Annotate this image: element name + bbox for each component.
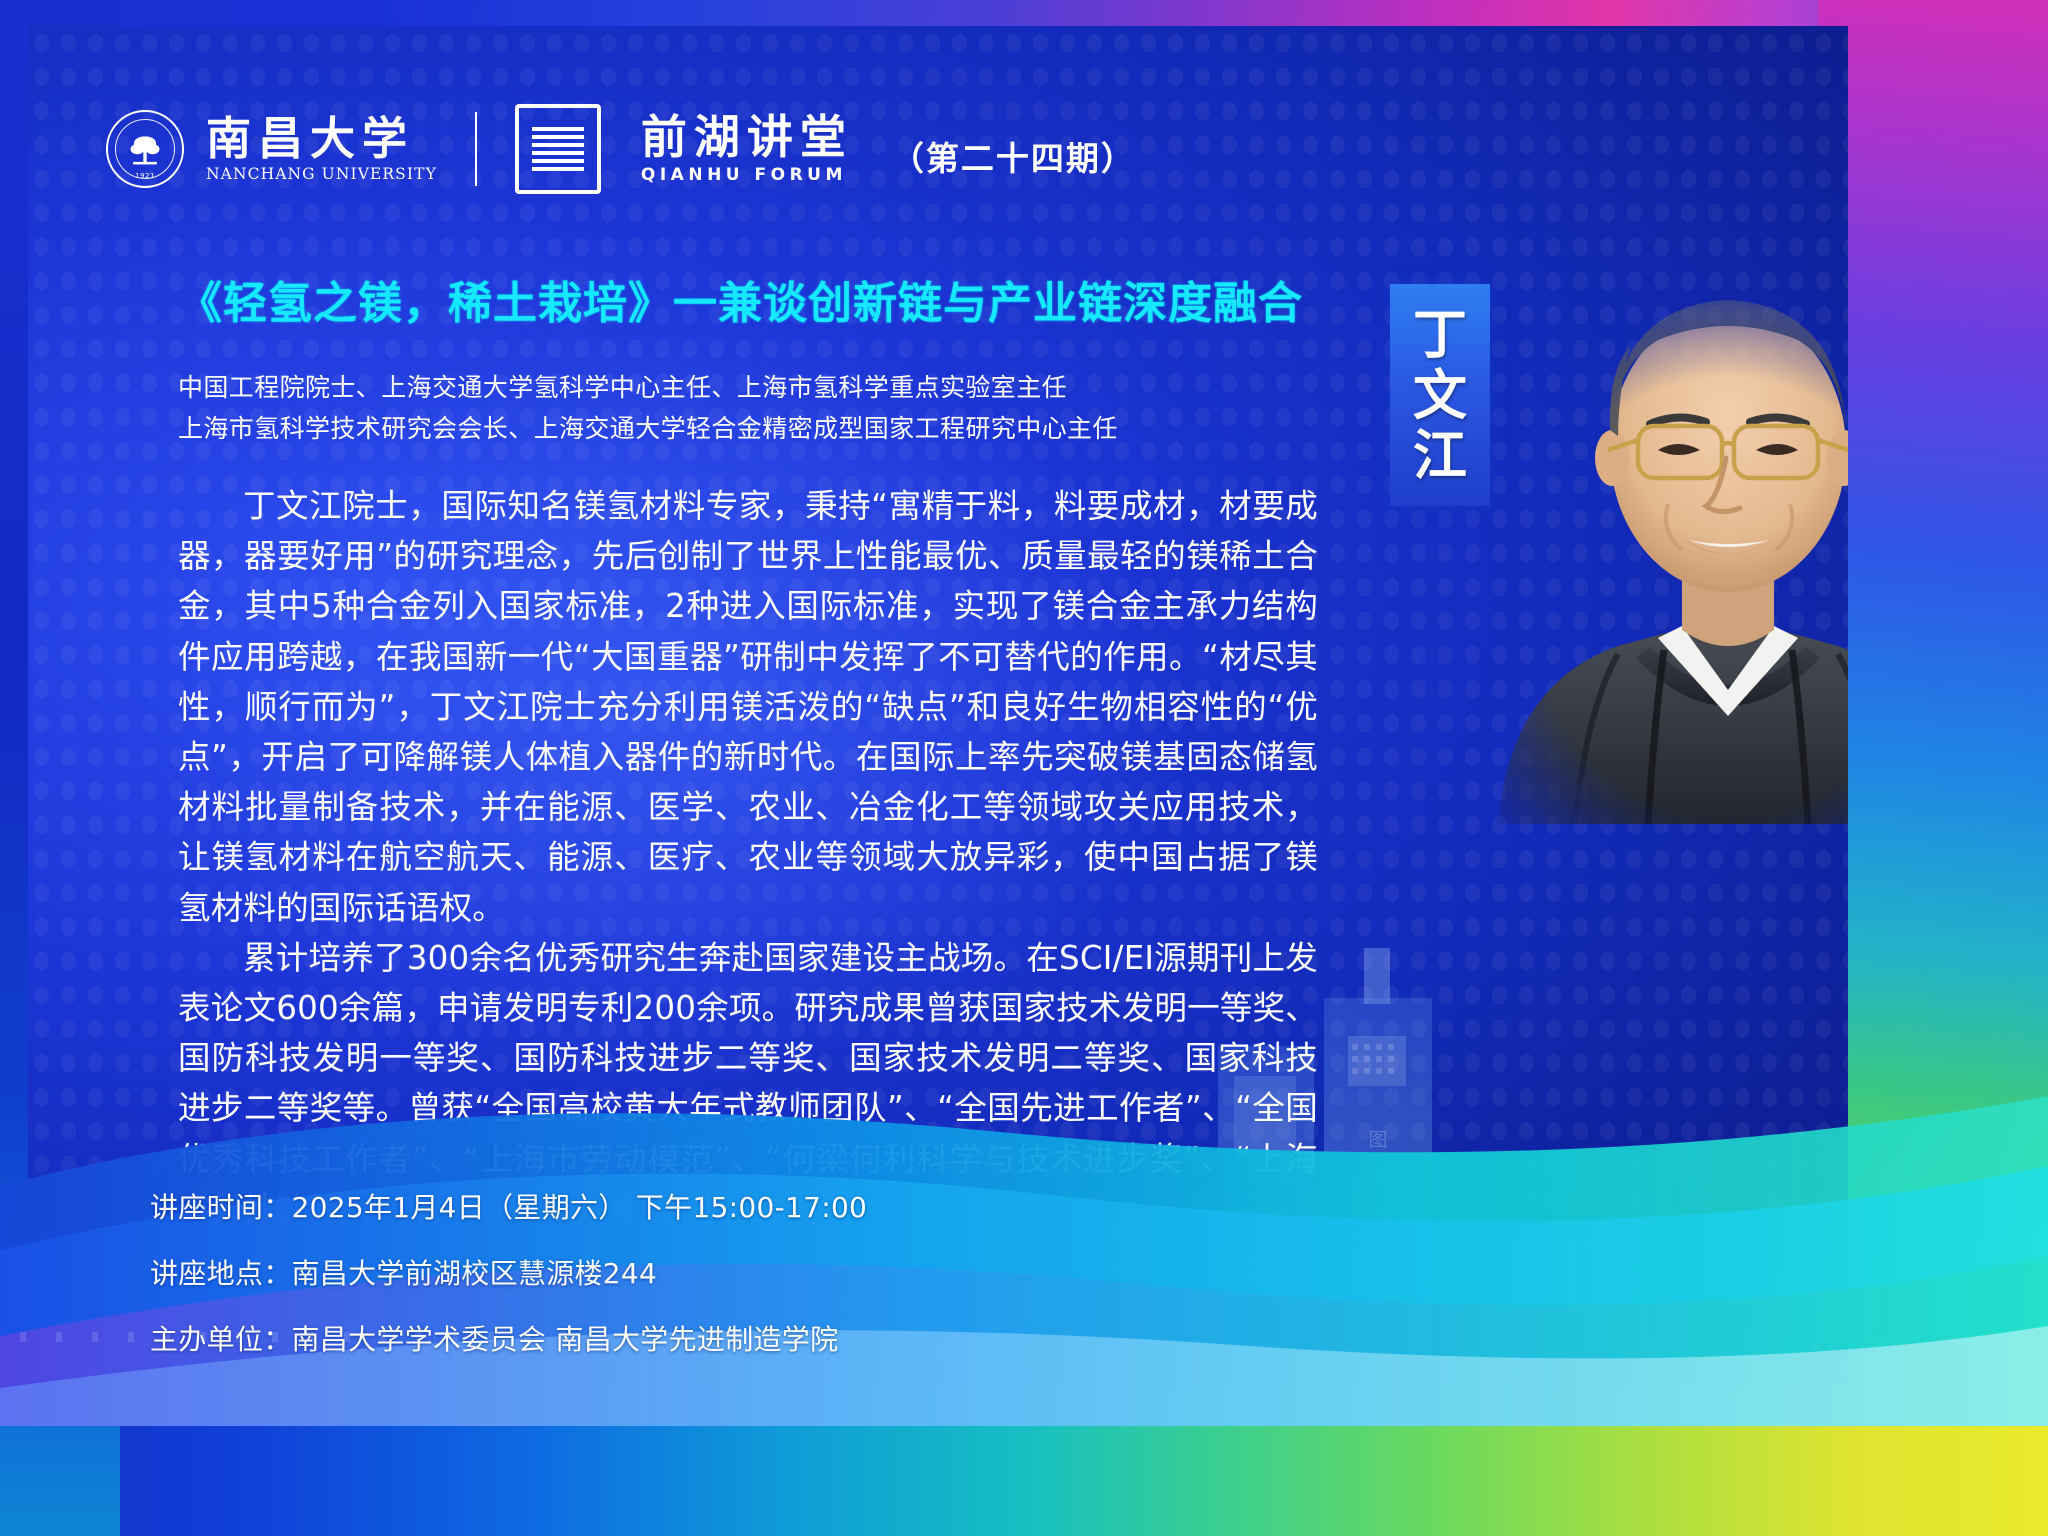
speaker-credentials-line2: 上海市氢科学技术研究会会长、上海交通大学轻合金精密成型国家工程研究中心主任: [178, 409, 1238, 450]
lecture-details: 讲座时间：2025年1月4日（星期六） 下午15:00-17:00 讲座地点：南…: [150, 1194, 867, 1354]
lecture-time: 讲座时间：2025年1月4日（星期六） 下午15:00-17:00: [150, 1194, 867, 1222]
university-name-en: NANCHANG UNIVERSITY: [206, 165, 437, 183]
speaker-name-char-3: 江: [1413, 427, 1467, 484]
forum-name-en: QIANHU FORUM: [641, 165, 853, 185]
header-divider: [475, 112, 477, 186]
logo-year: 1921: [135, 172, 155, 180]
lecture-location: 讲座地点：南昌大学前湖校区慧源楼244: [150, 1260, 867, 1288]
qianhu-seal-icon: [515, 104, 601, 194]
logo-tree-icon: [128, 133, 162, 167]
bio-paragraph-1: 丁文江院士，国际知名镁氢材料专家，秉持“寓精于料，料要成材，材要成器，器要好用”…: [178, 481, 1318, 933]
forum-issue-number: （第二十四期）: [891, 118, 1136, 180]
university-name-cn: 南昌大学: [206, 115, 437, 162]
seal-bars: [532, 127, 584, 171]
forum-name-cn: 前湖讲堂: [641, 113, 853, 161]
speaker-name-char-1: 丁: [1413, 306, 1467, 363]
forum-name: 前湖讲堂 QIANHU FORUM: [641, 113, 853, 184]
speaker-name-char-2: 文: [1413, 367, 1467, 424]
lecture-organizer: 主办单位：南昌大学学术委员会 南昌大学先进制造学院: [150, 1326, 867, 1354]
poster-header: 1921 南昌大学 NANCHANG UNIVERSITY 前湖讲堂 QIANH…: [106, 104, 1136, 194]
lecture-title: 《轻氢之镁，稀土栽培》一兼谈创新链与产业链深度融合: [178, 278, 1338, 331]
speaker-portrait: [1468, 254, 1848, 824]
university-name: 南昌大学 NANCHANG UNIVERSITY: [206, 115, 437, 182]
nanchang-university-logo-icon: 1921: [106, 110, 184, 188]
speaker-credentials-line1: 中国工程院院士、上海交通大学氢科学中心主任、上海市氢科学重点实验室主任: [178, 368, 1238, 409]
poster-root: 南昌大学: [0, 0, 2048, 1536]
speaker-credentials: 中国工程院院士、上海交通大学氢科学中心主任、上海市氢科学重点实验室主任 上海市氢…: [178, 368, 1238, 449]
